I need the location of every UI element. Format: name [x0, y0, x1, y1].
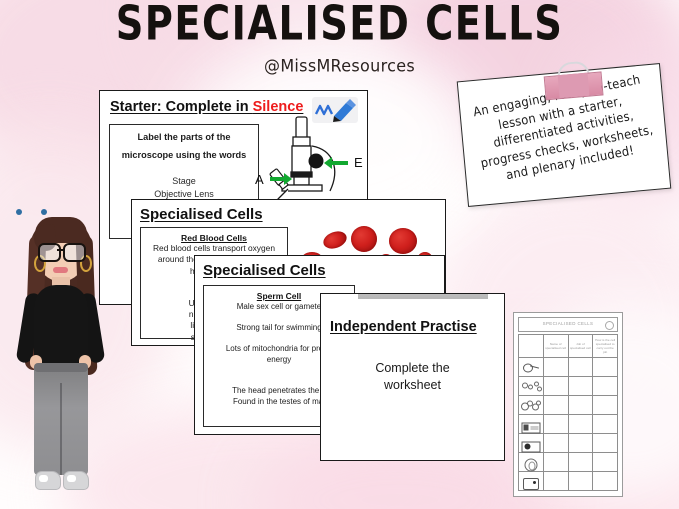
slide-starter-title: Starter: Complete in Silence [110, 99, 303, 115]
slide-independent-practise[interactable]: SPERM CELL Independent Practise Complete… [320, 293, 505, 461]
slide-rbc-title: Specialised Cells [140, 206, 263, 223]
avatar-eye-icon [41, 209, 47, 215]
capsule-icon [521, 441, 540, 452]
worksheet-icon-cell [519, 415, 544, 434]
worksheet-answer-cell[interactable] [568, 396, 593, 415]
square-cell-icon [523, 478, 539, 490]
table-row [519, 415, 618, 434]
slide-starter-title-prefix: Starter: Complete in [110, 99, 253, 115]
worksheet-answer-cell[interactable] [568, 377, 593, 396]
table-row [519, 358, 618, 377]
worksheet-answer-cell[interactable] [543, 415, 568, 434]
table-row [519, 377, 618, 396]
table-row [519, 396, 618, 415]
worksheet-heading: SPECIALISED CELLS [519, 321, 617, 326]
worksheet-answer-cell[interactable] [593, 396, 618, 415]
avatar-eye-icon [16, 209, 22, 215]
microscope-label-e: E [354, 155, 363, 170]
worksheet-answer-cell[interactable] [568, 358, 593, 377]
independent-body-line1: Complete the [321, 360, 504, 377]
avatar-mouth-icon [53, 267, 68, 273]
table-row [519, 472, 618, 491]
avatar-shoe [35, 471, 61, 490]
sperm-cell-icon [521, 382, 541, 391]
binder-clip-icon [539, 59, 606, 98]
worksheet-icon-cell [519, 358, 544, 377]
starter-instruction-line1: Label the parts of the [110, 125, 258, 143]
worksheet-answer-cell[interactable] [543, 358, 568, 377]
worksheet-icon-cell [519, 396, 544, 415]
starter-instruction-line2: microscope using the words [110, 143, 258, 161]
worksheet-answer-cell[interactable] [568, 453, 593, 472]
slide-starter-title-highlight: Silence [253, 99, 304, 115]
worksheet-answer-cell[interactable] [593, 358, 618, 377]
worksheet-icon-cell [519, 453, 544, 472]
worksheet-answer-cell[interactable] [543, 472, 568, 491]
independent-body-line2: worksheet [321, 377, 504, 394]
binder-clip-body-icon [544, 71, 604, 100]
avatar-waistband [34, 363, 88, 372]
worksheet-col-2: Job of specialised cell [568, 335, 593, 358]
nerve-cell-icon [521, 422, 540, 433]
worksheet-header: SPECIALISED CELLS [518, 317, 618, 332]
egg-cell-icon [521, 401, 541, 410]
worksheet-answer-cell[interactable] [568, 415, 593, 434]
table-row [519, 453, 618, 472]
worksheet-answer-cell[interactable] [593, 472, 618, 491]
worksheet-answer-cell[interactable] [543, 396, 568, 415]
slide-independent-title: Independent Practise [330, 319, 477, 335]
rbc-box-title: Red Blood Cells [141, 228, 287, 243]
oval-cell-icon [524, 458, 537, 471]
worksheet-preview[interactable]: SPECIALISED CELLS Name of specialised ce… [513, 312, 623, 497]
poster-canvas: SPECIALISED CELLS @MissMResources [0, 0, 679, 509]
worksheet-col-0 [519, 335, 544, 358]
worksheet-col-1: Name of specialised cell [543, 335, 568, 358]
table-header-row: Name of specialised cell Job of speciali… [519, 335, 618, 358]
avatar-jeans [34, 363, 88, 475]
microscope-label-a: A [255, 172, 264, 187]
worksheet-answer-cell[interactable] [543, 377, 568, 396]
glasses-lens-icon [38, 243, 61, 262]
avatar [10, 205, 110, 505]
glasses-lens-icon [63, 243, 86, 262]
worksheet-answer-cell[interactable] [568, 434, 593, 453]
magnifier-icon [523, 364, 539, 371]
worksheet-logo-icon [605, 321, 614, 330]
worksheet-answer-cell[interactable] [568, 472, 593, 491]
starter-word-stage: Stage [110, 161, 258, 188]
rbc-line1: Red blood cells transport oxygen [141, 243, 287, 254]
glasses-bridge-icon [57, 249, 65, 251]
worksheet-answer-cell[interactable] [543, 434, 568, 453]
worksheet-icon-cell [519, 377, 544, 396]
page-title: SPECIALISED CELLS [14, 0, 666, 47]
worksheet-icon-cell [519, 434, 544, 453]
slide-independent-body: Complete the worksheet [321, 360, 504, 394]
slide-sperm-title: Specialised Cells [203, 262, 326, 279]
worksheet-answer-cell[interactable] [593, 453, 618, 472]
worksheet-icon-cell [519, 472, 544, 491]
worksheet-col-3: How is the cell specialised to carry out… [593, 335, 618, 358]
avatar-shoe [63, 471, 89, 490]
table-row [519, 434, 618, 453]
glasses-icon [38, 243, 84, 258]
worksheet-answer-cell[interactable] [543, 453, 568, 472]
worksheet-table: Name of specialised cell Job of speciali… [518, 334, 618, 491]
worksheet-answer-cell[interactable] [593, 415, 618, 434]
worksheet-answer-cell[interactable] [593, 377, 618, 396]
worksheet-answer-cell[interactable] [593, 434, 618, 453]
video-thumbnail[interactable]: SPERM CELL [358, 293, 488, 299]
